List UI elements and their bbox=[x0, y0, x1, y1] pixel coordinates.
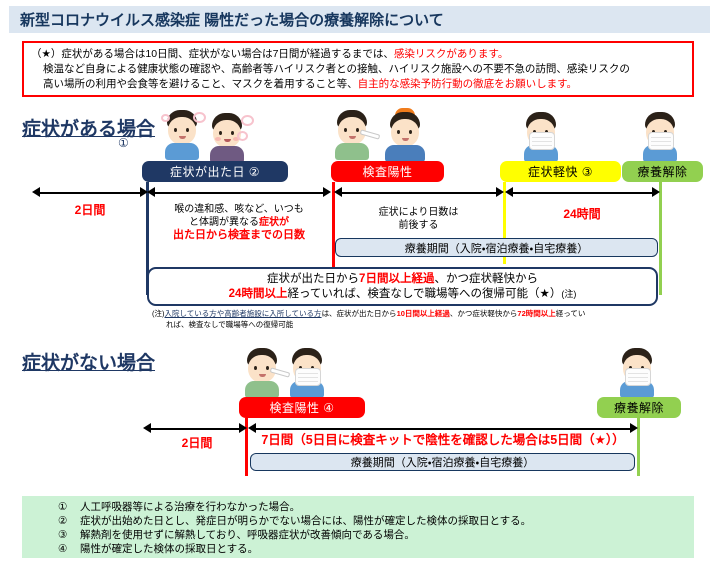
hospital-note-b: 、かつ症状軽快から bbox=[450, 309, 518, 318]
eye-right-icon bbox=[186, 128, 189, 132]
face-mask-icon bbox=[648, 132, 674, 150]
arrow-relief-to-release bbox=[505, 187, 660, 198]
caption-test-line2: 前後する bbox=[336, 219, 501, 232]
person-masked-released bbox=[638, 112, 682, 162]
face-mask-icon bbox=[625, 368, 651, 386]
face-mask-icon bbox=[295, 368, 321, 386]
warning-line-3: 高い場所の利用や会食等を避けること、マスクを着用すること等、自主的な感染予防行動… bbox=[31, 77, 686, 92]
hospital-note-red-2: 72時間以上 bbox=[517, 309, 555, 318]
body-icon bbox=[335, 143, 369, 160]
caption-onset-line3: 出た日から検査までの日数 bbox=[150, 229, 328, 242]
blanket-icon bbox=[385, 145, 425, 162]
footnote-row: ②症状が出始めた日とし、発症日が明らかでない場合には、陽性が確定した検体の採取日… bbox=[58, 514, 694, 528]
footnotes-box: ①人工呼吸器等による治療を行わなかった場合。 ②症状が出始めた日とし、発症日が明… bbox=[22, 496, 694, 558]
caption-two-days-asymptomatic: 2日間 bbox=[150, 437, 244, 450]
section-heading-symptomatic: 症状がある場合 bbox=[22, 114, 155, 141]
section-heading-symptomatic-note: ① bbox=[118, 136, 129, 150]
arrow-shaft bbox=[253, 428, 633, 430]
key-box-line-1-a: 症状が出た日から bbox=[267, 273, 359, 285]
person-onset-feverish bbox=[205, 113, 249, 163]
hospital-note-line-1: (注)入院している方や高齢者施設に入所している方は、症状が出た日から10日間以上… bbox=[152, 309, 585, 319]
key-box-line-2-b: 経っていれば、検査なしで職場等への復帰可能（★） bbox=[287, 288, 561, 300]
footnote-text: 解熱剤を使用せずに解熱しており、呼吸器症状が改善傾向である場合。 bbox=[80, 529, 415, 541]
milestone-symptom-relief: 症状軽快 ③ bbox=[500, 161, 621, 182]
arrow-shaft bbox=[339, 192, 499, 194]
arrow-head-right-icon bbox=[239, 423, 247, 433]
face-mask-icon bbox=[529, 132, 555, 150]
hospital-note-line-2: れば、検査なしで職場等への復帰可能 bbox=[166, 320, 293, 330]
person-swab-test-asymptomatic bbox=[240, 348, 284, 398]
hospital-note-head: (注) bbox=[152, 309, 165, 318]
milestone-test-positive: 検査陽性 bbox=[331, 161, 444, 182]
arrow-shaft bbox=[510, 192, 655, 194]
arrow-before-test-asymptomatic bbox=[143, 423, 247, 434]
hospital-note-red-1: 10日間以上経過 bbox=[397, 309, 450, 318]
footnote-number: ④ bbox=[58, 542, 80, 556]
infection-risk-warning-box: （★）症状がある場合は10日間、症状がない場合は7日間が経過するまでは、感染リス… bbox=[22, 41, 694, 97]
steam-icon bbox=[241, 115, 254, 126]
arrow-test-to-relief bbox=[334, 187, 504, 198]
arrow-head-right-icon bbox=[630, 423, 638, 433]
caption-onset-line2: と体調が異なる症状が bbox=[150, 216, 328, 229]
body-icon bbox=[165, 143, 199, 160]
key-box-line-2: 24時間以上経っていれば、検査なしで職場等への復帰可能（★）(注) bbox=[229, 287, 577, 302]
steam-icon bbox=[193, 112, 206, 123]
footnote-number: ② bbox=[58, 514, 80, 528]
face-icon bbox=[391, 119, 419, 147]
warning-line-1-highlight: 感染リスクがあります。 bbox=[394, 48, 508, 60]
warning-line-1: （★）症状がある場合は10日間、症状がない場合は7日間が経過するまでは、感染リス… bbox=[31, 47, 686, 62]
arrow-before-onset bbox=[32, 187, 148, 198]
steam-icon bbox=[237, 131, 248, 141]
eye-right-icon bbox=[356, 128, 359, 132]
caption-test-to-relief: 症状により日数は 前後する bbox=[336, 206, 501, 232]
key-box-line-1: 症状が出た日から7日間以上経過、かつ症状軽快から bbox=[267, 272, 538, 287]
person-swab-test bbox=[330, 110, 374, 160]
steam-icon bbox=[161, 114, 170, 122]
hospital-note-underlined: 入院している方や高齢者施設に入所している方 bbox=[165, 309, 322, 318]
arrow-onset-to-test bbox=[147, 187, 331, 198]
arrow-shaft bbox=[37, 192, 143, 194]
timeline-marker-release bbox=[659, 182, 662, 295]
eye-left-icon bbox=[219, 131, 222, 135]
footnote-number: ③ bbox=[58, 528, 80, 542]
warning-line-3-text: 高い場所の利用や会食等を避けること、マスクを着用すること等、 bbox=[43, 78, 358, 90]
care-period-bar-symptomatic: 療養期間（入院・宿泊療養・自宅療養） bbox=[335, 238, 658, 257]
footnote-text: 症状が出始めた日とし、発症日が明らかでない場合には、陽性が確定した検体の採取日と… bbox=[80, 515, 531, 527]
arrow-head-right-icon bbox=[652, 187, 660, 197]
warning-line-2: 検温など自身による健康状態の確認や、高齢者等ハイリスク者との接触、ハイリスク施設… bbox=[31, 62, 686, 77]
caption-onset-to-test: 喉の違和感、咳など、いつも と体調が異なる症状が 出た日から検査までの日数 bbox=[150, 203, 328, 242]
key-box-line-1-b: 、かつ症状軽快から bbox=[434, 273, 538, 285]
eye-right-icon bbox=[231, 131, 234, 135]
section-heading-asymptomatic: 症状がない場合 bbox=[22, 348, 155, 375]
footnote-row: ③解熱剤を使用せずに解熱しており、呼吸器症状が改善傾向である場合。 bbox=[58, 528, 694, 542]
footnote-row: ④陽性が確定した検体の採取日とする。 bbox=[58, 542, 694, 556]
person-masked-asymptomatic bbox=[285, 348, 329, 398]
key-box-line-2-highlight: 24時間以上 bbox=[229, 288, 288, 300]
caption-24-hours: 24時間 bbox=[507, 208, 657, 221]
arrow-head-right-icon bbox=[496, 187, 504, 197]
return-to-work-key-box: 症状が出た日から7日間以上経過、かつ症状軽快から 24時間以上経っていれば、検査… bbox=[147, 267, 658, 306]
milestone-test-positive-asymptomatic: 検査陽性 ④ bbox=[239, 397, 365, 418]
eye-right-icon bbox=[266, 366, 269, 370]
page-title: 新型コロナウイルス感染症 陽性だった場合の療養解除について bbox=[9, 9, 444, 30]
arrow-shaft bbox=[152, 192, 326, 194]
footnote-row: ①人工呼吸器等による治療を行わなかった場合。 bbox=[58, 500, 694, 514]
eye-left-icon bbox=[344, 128, 347, 132]
key-box-line-2-c: (注) bbox=[561, 289, 576, 299]
warning-line-1-text: （★）症状がある場合は10日間、症状がない場合は7日間が経過するまでは、 bbox=[31, 48, 394, 60]
milestone-care-release-asymptomatic: 療養解除 bbox=[597, 397, 681, 418]
caption-isolation-duration: 7日間（5日目に検査キットで陰性を確認した場合は5日間（★）） bbox=[249, 434, 637, 447]
caption-onset-line2-highlight: 症状が bbox=[259, 217, 289, 228]
milestone-care-release: 療養解除 bbox=[622, 161, 703, 182]
care-period-bar-asymptomatic: 療養期間（入院・宿泊療養・自宅療養） bbox=[250, 453, 635, 471]
face-icon bbox=[168, 117, 196, 145]
caption-onset-line1: 喉の違和感、咳など、いつも bbox=[150, 203, 328, 216]
key-box-line-1-highlight: 7日間以上経過 bbox=[359, 273, 434, 285]
footnote-text: 人工呼吸器等による治療を行わなかった場合。 bbox=[80, 501, 300, 513]
eye-left-icon bbox=[254, 366, 257, 370]
footnote-text: 陽性が確定した検体の採取日とする。 bbox=[80, 543, 258, 555]
eye-right-icon bbox=[409, 130, 412, 134]
milestone-onset-date: 症状が出た日 ② bbox=[142, 161, 288, 182]
cheek-left-icon bbox=[215, 137, 221, 141]
arrow-head-right-icon bbox=[323, 187, 331, 197]
footnote-number: ① bbox=[58, 500, 80, 514]
hospital-note-c: 経ってい bbox=[556, 309, 586, 318]
person-masked-relief bbox=[519, 112, 563, 162]
person-masked-released-asymptomatic bbox=[615, 348, 659, 398]
page-title-bar: 新型コロナウイルス感染症 陽性だった場合の療養解除について bbox=[9, 6, 710, 33]
caption-onset-line2-text: と体調が異なる bbox=[189, 217, 259, 228]
caption-test-line1: 症状により日数は bbox=[336, 206, 501, 219]
person-bedridden bbox=[383, 112, 427, 162]
eye-left-icon bbox=[174, 128, 177, 132]
body-icon bbox=[245, 381, 279, 398]
arrow-shaft bbox=[148, 428, 242, 430]
eye-left-icon bbox=[397, 130, 400, 134]
warning-line-3-highlight: 自主的な感染予防行動の徹底をお願いします。 bbox=[358, 78, 577, 90]
caption-two-days-symptomatic: 2日間 bbox=[42, 204, 138, 217]
diagram-page: 新型コロナウイルス感染症 陽性だった場合の療養解除について （★）症状がある場合… bbox=[0, 0, 719, 564]
hospital-note-a: は、症状が出た日から bbox=[322, 309, 397, 318]
